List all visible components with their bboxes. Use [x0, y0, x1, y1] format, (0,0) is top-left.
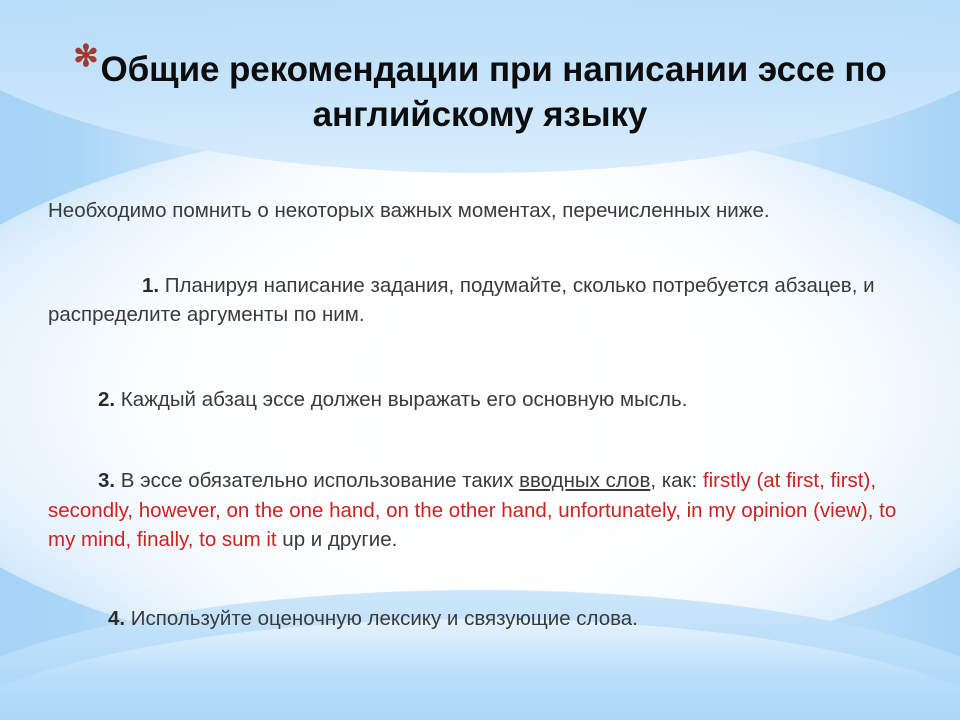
list-item-lead-text: В эссе обязательно использование таких: [115, 469, 519, 492]
list-item-number: 1.: [142, 274, 159, 297]
presentation-slide: ✻Общие рекомендации при написании эссе п…: [0, 0, 960, 720]
title-block: ✻Общие рекомендации при написании эссе п…: [0, 48, 960, 138]
list-item: 3. В эссе обязательно использование таки…: [48, 466, 912, 553]
list-item: 1. Планируя написание задания, подумайте…: [48, 271, 912, 329]
list-item-number: 3.: [98, 469, 115, 492]
page-title: Общие рекомендации при написании эссе по…: [101, 50, 887, 134]
asterisk-bullet-icon: ✻: [73, 42, 98, 72]
intro-paragraph: Необходимо помнить о некоторых важных мо…: [48, 196, 912, 225]
list-item-text: Планируя написание задания, подумайте, с…: [48, 274, 875, 326]
list-item-number: 4.: [108, 607, 125, 630]
slide-content: ✻Общие рекомендации при написании эссе п…: [0, 0, 960, 720]
list-item-mid-text: , как:: [650, 469, 703, 492]
body-block: Необходимо помнить о некоторых важных мо…: [0, 196, 960, 633]
list-item-number: 2.: [98, 388, 115, 411]
underlined-phrase: вводных слов: [519, 469, 650, 492]
list-item: 4. Используйте оценочную лексику и связу…: [48, 604, 912, 633]
list-item: 2. Каждый абзац эссе должен выражать его…: [48, 385, 912, 414]
list-item-text: Используйте оценочную лексику и связующи…: [125, 607, 638, 630]
list-item-text: Каждый абзац эссе должен выражать его ос…: [115, 388, 687, 411]
list-item-tail-text: up и другие.: [277, 528, 398, 551]
